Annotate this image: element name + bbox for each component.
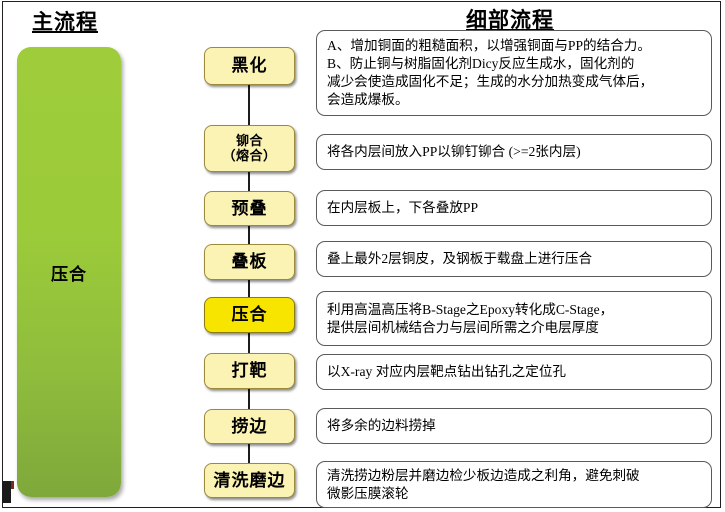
corner-artifact: [2, 481, 11, 503]
detail-line: 叠上最外2层铜皮，及钢板于载盘上进行压合: [327, 250, 703, 268]
detail-line: 以X-ray 对应内层靶点钻出钻孔之定位孔: [327, 363, 703, 381]
main-stage-label: 压合: [51, 260, 87, 285]
flow-step-pre-stack[interactable]: 预叠: [204, 191, 295, 226]
detail-line: 微影压膜滚轮: [327, 485, 703, 503]
connector-arrow-5: [248, 333, 250, 353]
flow-step-edge-trim[interactable]: 捞边: [204, 409, 295, 444]
detail-box-riveting: 将各内层间放入PP以铆钉铆合 (>=2张内层): [316, 134, 712, 170]
detail-line: 利用高温高压将B-Stage之Epoxy转化成C-Stage，: [327, 301, 703, 319]
flow-step-label: 铆合 （熔合）: [222, 134, 276, 163]
detail-line: 减少会使造成固化不足；生成的水分加热变成气体后，: [327, 73, 703, 91]
flow-step-label: 黑化: [232, 56, 268, 75]
detail-box-blackening: A、增加铜面的粗糙面积，以增强铜面与PP的结合力。 B、防止铜与树脂固化剂Dic…: [316, 30, 712, 116]
detail-line: 在内层板上，下各叠放PP: [327, 199, 703, 217]
detail-box-x-ray-target: 以X-ray 对应内层靶点钻出钻孔之定位孔: [316, 354, 712, 390]
flow-step-label-line1: 铆合: [236, 133, 263, 148]
detail-box-lay-up: 叠上最外2层铜皮，及钢板于载盘上进行压合: [316, 241, 712, 277]
detail-line: 清洗捞边粉层并磨边检少板边造成之利角，避免刺破: [327, 467, 703, 485]
corner-artifact-red: [11, 481, 14, 489]
detail-box-pre-stack: 在内层板上，下各叠放PP: [316, 190, 712, 226]
slide-canvas: 主流程 细部流程 压合 黑化 铆合 （熔合） 预叠 叠板 压合 打靶 捞边 清洗…: [0, 0, 725, 512]
flow-step-blackening[interactable]: 黑化: [204, 47, 295, 85]
flow-step-pressing[interactable]: 压合: [204, 297, 295, 333]
flow-step-label: 压合: [232, 305, 268, 324]
flow-step-label: 预叠: [232, 199, 268, 218]
detail-line: 会造成爆板。: [327, 91, 703, 109]
main-flow-title: 主流程: [32, 6, 98, 36]
flow-step-lay-up[interactable]: 叠板: [204, 244, 295, 280]
flow-step-x-ray-target[interactable]: 打靶: [204, 353, 295, 389]
flow-step-clean-grind[interactable]: 清洗磨边: [204, 463, 295, 498]
detail-box-edge-trim: 将多余的边料捞掉: [316, 408, 712, 444]
connector-arrow-2: [248, 172, 250, 191]
flow-step-label: 打靶: [232, 361, 268, 380]
detail-box-clean-grind: 清洗捞边粉层并磨边检少板边造成之利角，避免刺破 微影压膜滚轮: [316, 461, 712, 508]
connector-arrow-1: [248, 85, 250, 125]
flow-step-label: 叠板: [232, 252, 268, 271]
flow-step-riveting[interactable]: 铆合 （熔合）: [204, 125, 295, 172]
detail-line: 提供层间机械结合力与层间所需之介电层厚度: [327, 319, 703, 337]
detail-line: 将多余的边料捞掉: [327, 417, 703, 435]
detail-line: A、增加铜面的粗糙面积，以增强铜面与PP的结合力。: [327, 37, 703, 55]
detail-line: 将各内层间放入PP以铆钉铆合 (>=2张内层): [327, 143, 703, 161]
connector-arrow-3: [248, 226, 250, 244]
connector-arrow-6: [248, 389, 250, 409]
flow-step-label-line2: （熔合）: [222, 148, 276, 163]
connector-arrow-7: [248, 444, 250, 463]
detail-box-pressing: 利用高温高压将B-Stage之Epoxy转化成C-Stage， 提供层间机械结合…: [316, 291, 712, 346]
main-stage-block: 压合: [17, 47, 121, 497]
flow-step-label: 捞边: [232, 417, 268, 436]
connector-arrow-4: [248, 280, 250, 297]
flow-step-label: 清洗磨边: [214, 471, 286, 490]
detail-line: B、防止铜与树脂固化剂Dicy反应生成水，固化剂的: [327, 55, 703, 73]
